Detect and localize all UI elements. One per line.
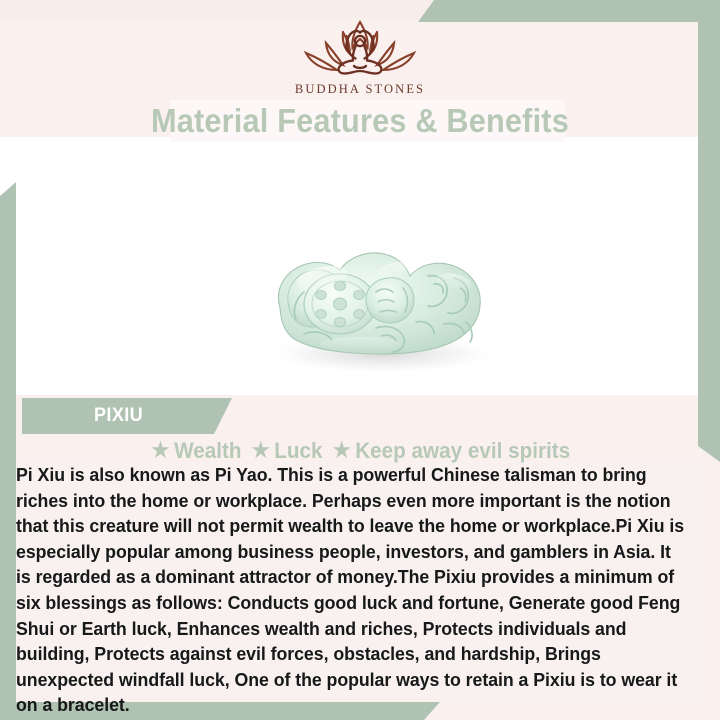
product-image-pixiu bbox=[248, 236, 516, 376]
description-text: Pi Xiu is also known as Pi Yao. This is … bbox=[16, 463, 687, 719]
lotus-meditation-figure-icon bbox=[285, 18, 435, 80]
product-label-banner: PIXIU bbox=[22, 398, 232, 434]
product-label-text: PIXIU bbox=[94, 405, 143, 427]
star-icon: ★ bbox=[333, 439, 351, 462]
star-icon: ★ bbox=[152, 439, 170, 462]
decor-bar-left bbox=[0, 182, 16, 720]
benefit-wealth: Wealth bbox=[174, 438, 241, 463]
star-icon: ★ bbox=[252, 439, 270, 462]
brand-logo: BUDDHA STONES bbox=[0, 18, 720, 100]
page-title: Material Features & Benefits bbox=[25, 101, 695, 141]
brand-name: BUDDHA STONES bbox=[295, 82, 425, 97]
benefit-evil-spirits: Keep away evil spirits bbox=[355, 438, 570, 463]
benefit-luck: Luck bbox=[274, 438, 322, 463]
benefits-row: ★Wealth★Luck★Keep away evil spirits bbox=[22, 437, 699, 466]
infographic-page: BUDDHA STONES Material Features & Benefi… bbox=[0, 0, 720, 720]
